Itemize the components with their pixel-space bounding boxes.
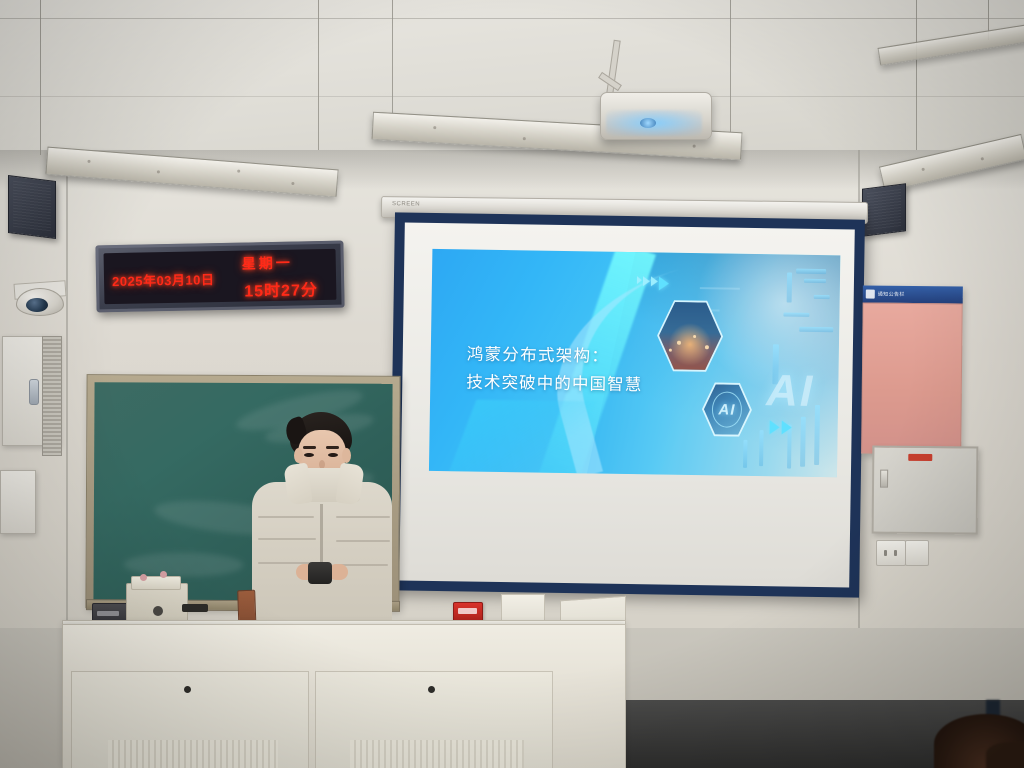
- notice-board-header: 通知公告栏: [863, 285, 963, 303]
- vent-grille: [42, 336, 62, 456]
- wall-speaker-left: [8, 175, 56, 239]
- projection-screen-frame: AI: [389, 212, 865, 597]
- chevron-right-icon: [651, 276, 658, 286]
- classroom-scene: 2025年03月10日 星期一 15时27分 SCREEN: [0, 0, 1024, 768]
- teacher-podium: [62, 624, 626, 768]
- hanging-wire: [318, 0, 319, 150]
- desk-door-left[interactable]: [71, 671, 309, 768]
- led-date-text: 2025年03月10日: [112, 269, 215, 290]
- red-box: [453, 602, 483, 622]
- led-screen: 2025年03月10日 星期一 15时27分: [104, 249, 337, 304]
- ceiling: [0, 0, 1024, 175]
- machine-indicator: [160, 571, 167, 578]
- eye: [304, 453, 314, 457]
- notice-icon: [866, 290, 875, 299]
- presentation-slide: AI: [429, 249, 840, 477]
- chevron-right-icon: [782, 420, 792, 434]
- machine-arm: [182, 604, 208, 612]
- power-outlet[interactable]: [876, 540, 906, 566]
- chevron-right-icon: [659, 276, 669, 290]
- hanging-wire: [40, 0, 41, 155]
- ear: [294, 448, 303, 463]
- audience-shoulder-foreground: [986, 742, 1024, 768]
- chevron-right-icon: [643, 276, 650, 286]
- eyebrow: [303, 446, 316, 449]
- desk-vent: [108, 740, 278, 768]
- notice-board-title: 通知公告栏: [878, 291, 905, 298]
- power-outlet-secondary[interactable]: [905, 540, 929, 566]
- notice-board-poster: [861, 302, 963, 454]
- led-time-text: 15时27分: [244, 276, 318, 301]
- slide-title-line2: 技术突破中的中国智慧: [466, 369, 642, 399]
- projector-lens-icon: [640, 118, 656, 128]
- camera-lens-icon: [26, 298, 48, 312]
- chevron-right-icon: [637, 276, 642, 284]
- led-clock-display: 2025年03月10日 星期一 15时27分: [95, 241, 344, 313]
- slide-title: 鸿蒙分布式架构： 技术突破中的中国智慧: [466, 341, 643, 399]
- eyebrow: [326, 446, 339, 449]
- slide-title-line1: 鸿蒙分布式架构：: [467, 341, 643, 371]
- desk-knob[interactable]: [184, 686, 191, 693]
- hanging-wire: [730, 0, 731, 152]
- desk-door-right[interactable]: [315, 671, 553, 768]
- ear: [342, 448, 351, 463]
- hanging-wire: [916, 0, 917, 150]
- projection-screen-surface: AI: [399, 222, 855, 587]
- eye: [328, 453, 338, 457]
- wall-box-lower: [0, 470, 36, 534]
- ceiling-seam: [0, 18, 1024, 19]
- machine-knob[interactable]: [153, 606, 163, 616]
- wall-speaker-right: [862, 183, 906, 236]
- roller-brand-label: SCREEN: [392, 201, 420, 207]
- chevron-arrows-top: [637, 276, 669, 291]
- hanging-wire: [392, 0, 393, 118]
- chevron-arrows-bottom: [770, 420, 792, 434]
- electrical-panel[interactable]: [872, 446, 979, 535]
- desk-knob[interactable]: [428, 686, 435, 693]
- cabinet-handle[interactable]: [29, 379, 39, 405]
- desk-vent: [350, 740, 524, 768]
- machine-indicator: [140, 574, 147, 581]
- ceiling-seam: [0, 96, 1024, 97]
- led-weekday-text: 星期一: [242, 253, 293, 274]
- presenter: [246, 412, 396, 638]
- presentation-clicker[interactable]: [308, 562, 332, 584]
- ai-ring-icon: [712, 391, 743, 427]
- chevron-right-icon: [770, 420, 780, 434]
- notice-board: 通知公告栏: [861, 285, 963, 454]
- beige-machine-top: [131, 576, 181, 590]
- warning-label-icon: [908, 454, 932, 461]
- wall-seam: [66, 150, 68, 650]
- panel-latch[interactable]: [880, 470, 888, 488]
